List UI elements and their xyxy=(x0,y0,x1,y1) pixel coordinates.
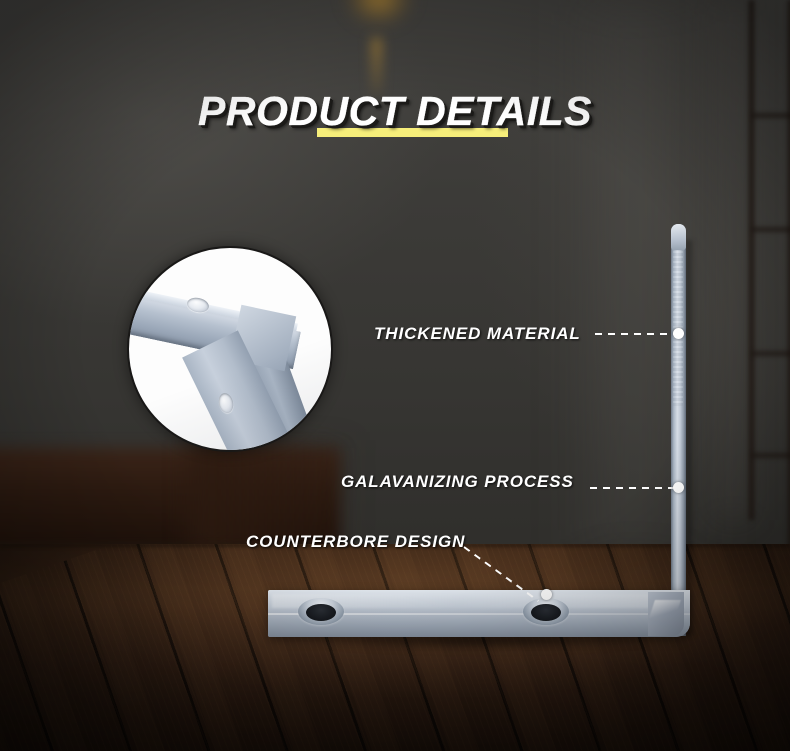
page-title: PRODUCT DETAILS xyxy=(198,88,592,135)
ladder-rung xyxy=(752,226,790,233)
callout-endpoint-dot xyxy=(541,589,552,600)
vertical-arm-shadow xyxy=(686,240,695,636)
ladder-rung xyxy=(752,452,790,459)
callout-leader-line xyxy=(590,487,678,489)
closeup-shading xyxy=(129,248,331,450)
corner-closeup-inset xyxy=(127,246,333,452)
counterbore-hole-pit xyxy=(531,604,561,621)
ladder-rung xyxy=(752,350,790,357)
vertical-arm-texture xyxy=(673,236,683,406)
callout-label: COUNTERBORE DESIGN xyxy=(246,532,465,552)
vertical-arm-tip xyxy=(671,224,686,250)
ladder-post-left xyxy=(747,0,756,520)
product-detail-image: PRODUCT DETAILS xyxy=(0,0,790,751)
callout-endpoint-dot xyxy=(673,482,684,493)
ladder-backlight xyxy=(700,0,748,520)
page-title-block: PRODUCT DETAILS xyxy=(0,88,790,135)
callout-label: THICKENED MATERIAL xyxy=(374,324,581,344)
callout-label: GALAVANIZING PROCESS xyxy=(341,472,574,492)
counterbore-hole-pit xyxy=(306,604,336,621)
closeup-content xyxy=(129,248,331,450)
callout-endpoint-dot xyxy=(673,328,684,339)
ladder-post-right xyxy=(786,0,790,560)
callout-leader-line xyxy=(595,333,677,335)
